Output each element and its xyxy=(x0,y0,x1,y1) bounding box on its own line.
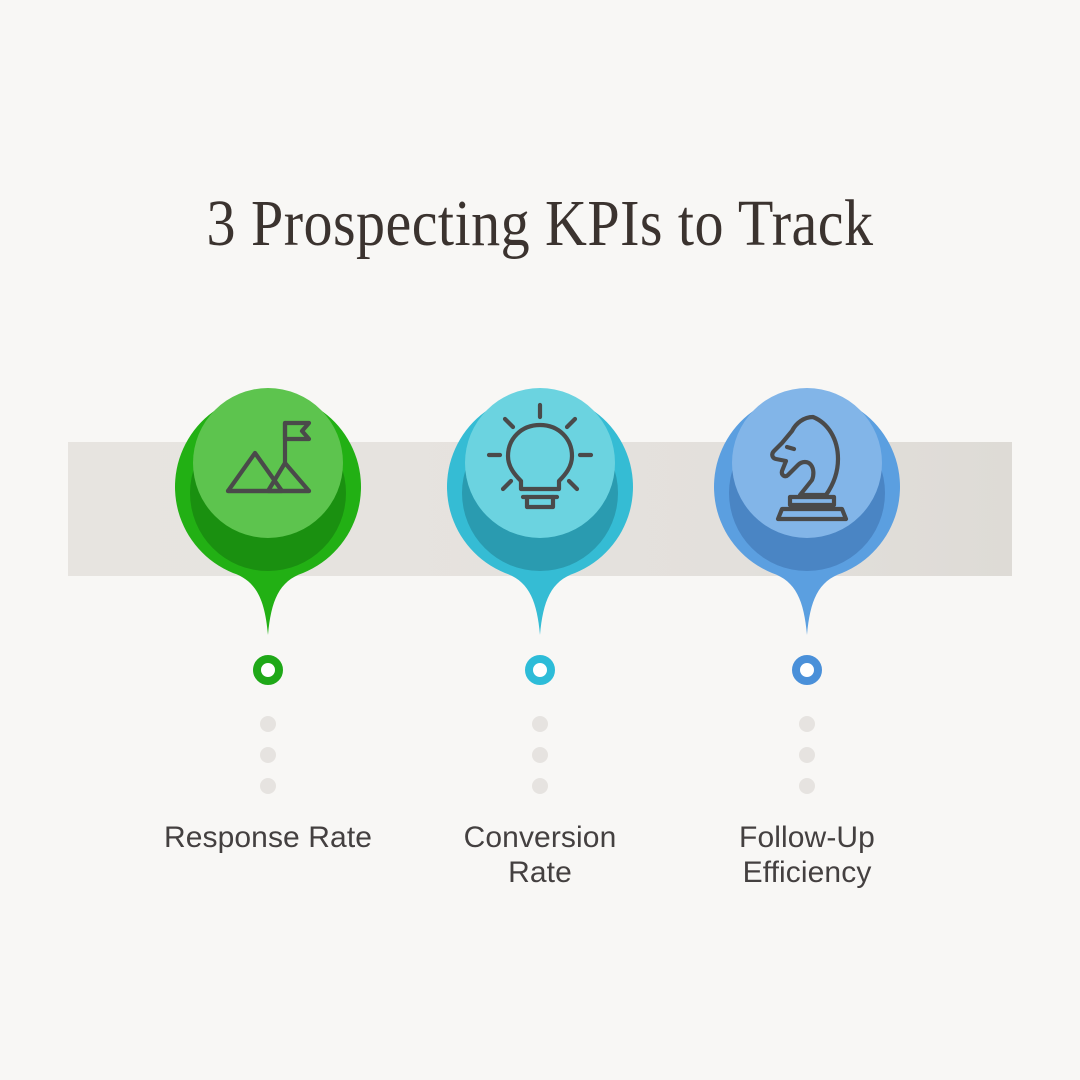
timeline-markers-response-rate xyxy=(248,655,288,794)
pin-shape-follow-up-efficiency xyxy=(712,385,902,635)
pin-marker-follow-up-efficiency[interactable] xyxy=(712,385,902,635)
kpi-column-follow-up-efficiency[interactable]: Follow-Up Efficiency xyxy=(673,0,941,1080)
timeline-dot[interactable] xyxy=(260,716,276,732)
pin-marker-response-rate[interactable] xyxy=(173,385,363,635)
kpi-columns: Response Rate xyxy=(0,0,1080,1080)
kpi-label-response-rate: Response Rate xyxy=(143,820,393,855)
kpi-label-follow-up-efficiency: Follow-Up Efficiency xyxy=(725,820,890,890)
timeline-markers-conversion-rate xyxy=(520,655,560,794)
timeline-ring-active[interactable] xyxy=(525,655,555,685)
timeline-dot[interactable] xyxy=(532,747,548,763)
timeline-dot[interactable] xyxy=(799,778,815,794)
infographic-canvas: 3 Prospecting KPIs to Track xyxy=(0,0,1080,1080)
timeline-markers-follow-up-efficiency xyxy=(787,655,827,794)
timeline-dot[interactable] xyxy=(532,778,548,794)
timeline-dot[interactable] xyxy=(260,747,276,763)
timeline-ring-active[interactable] xyxy=(792,655,822,685)
timeline-dot[interactable] xyxy=(260,778,276,794)
pin-top-circle-icon xyxy=(193,388,343,538)
timeline-dot[interactable] xyxy=(799,747,815,763)
pin-marker-conversion-rate[interactable] xyxy=(445,385,635,635)
pin-shape-conversion-rate xyxy=(445,385,635,635)
timeline-dot[interactable] xyxy=(532,716,548,732)
timeline-dot[interactable] xyxy=(799,716,815,732)
kpi-column-conversion-rate[interactable]: Conversion Rate xyxy=(406,0,674,1080)
kpi-label-conversion-rate: Conversion Rate xyxy=(455,820,625,890)
kpi-column-response-rate[interactable]: Response Rate xyxy=(134,0,402,1080)
pin-shape-response-rate xyxy=(173,385,363,635)
timeline-ring-active[interactable] xyxy=(253,655,283,685)
